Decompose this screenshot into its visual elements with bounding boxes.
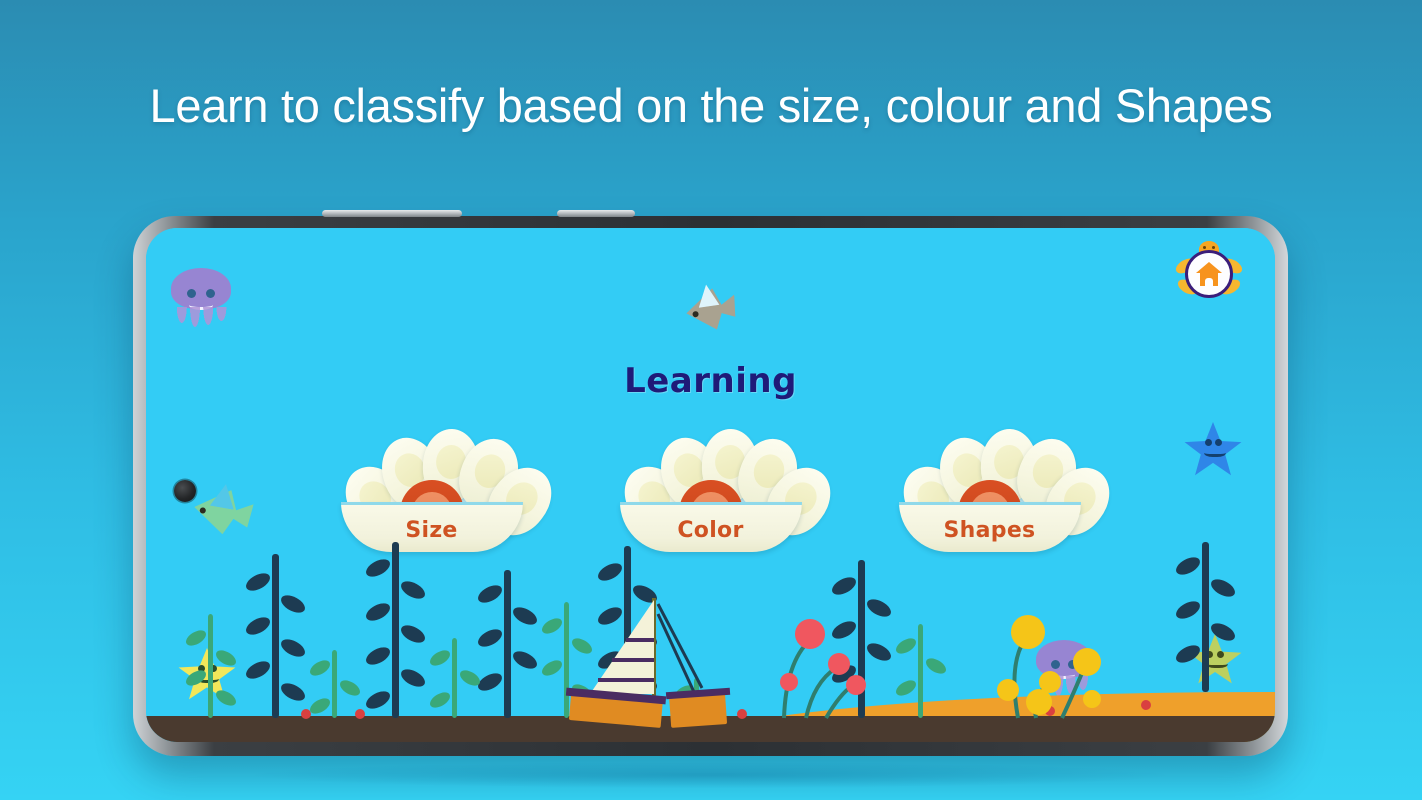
home-turtle-button[interactable] [1174, 241, 1244, 303]
app-screen: Learning Size [146, 228, 1275, 742]
phone-drop-shadow [255, 762, 1165, 788]
shell-button-shapes[interactable]: Shapes [897, 424, 1083, 552]
jellyfish-purple-top-left-icon [171, 268, 231, 330]
shell-label-shapes: Shapes [944, 518, 1036, 543]
phone-frame: Learning Size [133, 216, 1288, 756]
shell-button-size[interactable]: Size [339, 424, 525, 552]
shell-label-size: Size [405, 518, 457, 543]
shell-button-color[interactable]: Color [618, 424, 804, 552]
page-headline: Learn to classify based on the size, col… [0, 78, 1422, 133]
fish-gray-top-center-icon [683, 283, 739, 336]
phone-screen-bezel: Learning Size [146, 228, 1275, 742]
power-button[interactable] [557, 210, 635, 217]
turtle-shell [1185, 250, 1233, 298]
sunken-sailboat-icon [566, 598, 730, 728]
volume-rocker-button[interactable] [322, 210, 462, 217]
page-title: Learning [146, 361, 1275, 401]
seabed-scenery [146, 542, 1275, 742]
category-button-row: Size Color [146, 424, 1275, 552]
shell-label-color: Color [677, 518, 743, 543]
home-icon [1196, 262, 1222, 286]
